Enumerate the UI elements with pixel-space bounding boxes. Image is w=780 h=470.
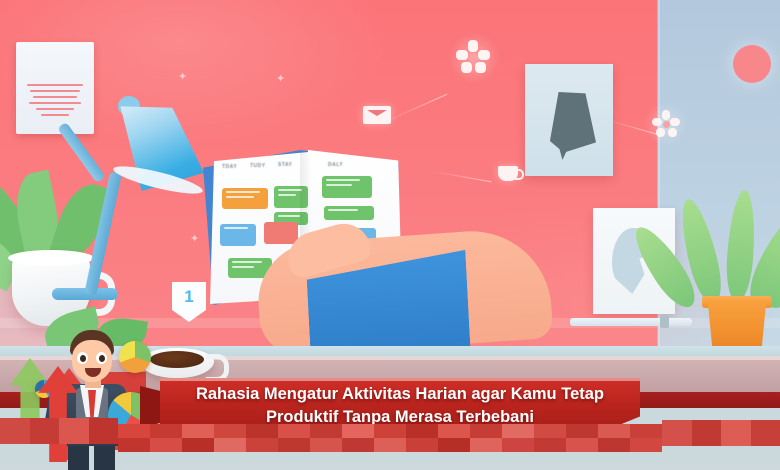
mosaic-tile [342, 424, 374, 438]
mosaic-tile [534, 424, 566, 438]
mosaic-tile [59, 418, 89, 444]
flower-icon [652, 110, 680, 138]
sparkle-icon: ✦ [190, 232, 199, 245]
mosaic-tile [470, 438, 502, 452]
mosaic-tile [598, 424, 630, 438]
mosaic-tile [721, 420, 751, 446]
mosaic-censor-left [0, 418, 118, 444]
mosaic-tile [214, 438, 246, 452]
ribbon-highlight [160, 378, 640, 381]
mosaic-tile [278, 424, 310, 438]
planner-task-card [220, 224, 256, 246]
mosaic-tile [278, 438, 310, 452]
illustration-canvas: ✦ ✦ ✦ TDAY TUDY STAY DALY 1 [0, 0, 780, 470]
mosaic-tile [438, 424, 470, 438]
mosaic-tile [182, 424, 214, 438]
mosaic-tile [89, 418, 119, 444]
planner-task-card [322, 176, 372, 198]
mosaic-tile [751, 420, 780, 446]
mosaic-tile [534, 438, 566, 452]
shelf-bookend [660, 316, 669, 328]
mosaic-tile [118, 424, 150, 438]
wall-shelf [570, 318, 692, 326]
banner-title-line1: Rahasia Mengatur Aktivitas Harian agar K… [160, 383, 640, 406]
mosaic-tile [470, 424, 502, 438]
mascot-pupil-left [80, 355, 86, 362]
flower-pot [705, 300, 769, 352]
coffee-liquid [150, 351, 204, 368]
mosaic-tile [30, 418, 60, 444]
mosaic-tile [438, 438, 470, 452]
mosaic-censor-bottom [118, 424, 662, 452]
planner-column-header: STAY [278, 162, 293, 168]
mascot-leg-right [94, 442, 115, 470]
mosaic-tile [406, 438, 438, 452]
mosaic-tile [374, 424, 406, 438]
mosaic-tile [692, 420, 722, 446]
mosaic-tile [0, 418, 30, 444]
mosaic-tile [662, 420, 692, 446]
mosaic-tile [182, 438, 214, 452]
banner-title: Rahasia Mengatur Aktivitas Harian agar K… [160, 383, 640, 429]
envelope-icon [363, 106, 391, 124]
paper-note [16, 42, 94, 134]
mosaic-tile [214, 424, 246, 438]
mosaic-tile [630, 424, 662, 438]
planner-task-card [324, 206, 374, 220]
planner-column-header: TUDY [250, 163, 266, 169]
flower-icon [456, 40, 490, 74]
mosaic-tile [310, 438, 342, 452]
mosaic-tile [406, 424, 438, 438]
mascot-leg-left [68, 442, 89, 470]
planner-column-header: TDAY [222, 164, 237, 170]
mosaic-tile [598, 438, 630, 452]
vase-lip [8, 250, 94, 266]
planner-task-card [264, 222, 298, 244]
mascot-pupil-right [99, 355, 105, 362]
mosaic-tile [246, 424, 278, 438]
cup-icon [498, 166, 518, 181]
mosaic-tile [630, 438, 662, 452]
mosaic-censor-right [662, 420, 780, 446]
planner-column-header: DALY [328, 162, 343, 168]
mosaic-tile [150, 438, 182, 452]
mosaic-tile [310, 424, 342, 438]
sparkle-icon: ✦ [178, 70, 187, 83]
mosaic-tile [374, 438, 406, 452]
mosaic-tile [566, 424, 598, 438]
mosaic-tile [502, 424, 534, 438]
planner-task-card [222, 188, 268, 209]
circle-decor [733, 45, 771, 83]
mosaic-tile [566, 438, 598, 452]
mosaic-tile [150, 424, 182, 438]
mosaic-tile [118, 438, 150, 452]
mosaic-tile [502, 438, 534, 452]
sparkle-icon: ✦ [276, 72, 285, 85]
mosaic-tile [342, 438, 374, 452]
badge-number: 1 [172, 287, 206, 307]
mosaic-tile [246, 438, 278, 452]
